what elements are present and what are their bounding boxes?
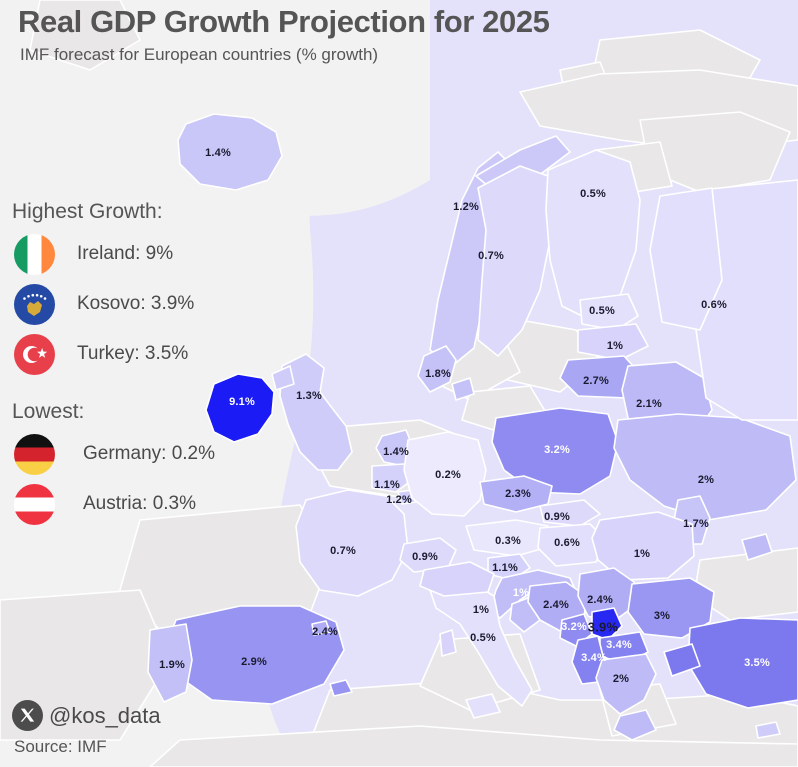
map-value-austria: 0.3%	[495, 535, 521, 547]
header: Real GDP Growth Projection for 2025 IMF …	[18, 4, 550, 65]
map-value-luxembourg: 1.2%	[386, 494, 412, 506]
map-value-netherlands: 1.4%	[383, 446, 409, 458]
page-title: Real GDP Growth Projection for 2025	[18, 4, 550, 40]
germany-flag-icon	[14, 434, 55, 475]
map-value-italy: 0.5%	[470, 632, 496, 644]
map-value-andorra: 2.4%	[312, 626, 338, 638]
infographic-root: 1.4% 1.2% 0.7% 0.5% 0.5% 0.6% 1% 2.7% 2.…	[0, 0, 798, 767]
legend-item-label: Ireland: 9%	[77, 243, 173, 265]
legend-item-label: Kosovo: 3.9%	[77, 293, 194, 315]
legend-item-germany: Germany: 0.2%	[10, 430, 215, 478]
legend-item-turkey: Turkey: 3.5%	[10, 330, 215, 378]
legend-item-label: Austria: 0.3%	[83, 493, 196, 515]
map-value-belgium: 1.1%	[374, 479, 400, 491]
ireland-flag-icon	[14, 234, 55, 275]
map-value-belarus: 2.1%	[636, 398, 662, 410]
kosovo-flag-icon	[14, 284, 55, 325]
map-value-kosovo: 3.9%	[588, 620, 618, 635]
map-value-slovenia: 1.1%	[492, 562, 518, 574]
x-logo-icon	[12, 700, 43, 731]
map-value-france: 0.7%	[330, 545, 356, 557]
map-value-croatia: 1%	[513, 587, 529, 599]
map-value-switzerland: 0.9%	[412, 551, 438, 563]
map-value-denmark: 1.8%	[425, 368, 451, 380]
legend-item-kosovo: Kosovo: 3.9%	[10, 280, 215, 328]
map-value-germany: 0.2%	[435, 469, 461, 481]
austria-flag-icon	[14, 484, 55, 525]
legend-item-ireland: Ireland: 9%	[10, 230, 215, 278]
map-value-romania: 1%	[634, 548, 650, 560]
map-value-hungary: 0.6%	[554, 537, 580, 549]
map-value-turkey: 3.5%	[744, 657, 770, 669]
map-value-russia: 0.6%	[701, 299, 727, 311]
legend-item-label: Turkey: 3.5%	[77, 343, 188, 365]
legend-item-austria: Austria: 0.3%	[10, 480, 215, 528]
footer: @kos_data Source: IMF	[12, 700, 161, 757]
map-value-latvia: 1%	[607, 340, 623, 352]
map-value-estonia: 0.5%	[589, 305, 615, 317]
handle-row: @kos_data	[12, 700, 161, 731]
legend-highest-heading: Highest Growth:	[12, 200, 215, 224]
legend-lowest-heading: Lowest:	[12, 400, 215, 424]
map-value-italy-north: 1%	[473, 604, 489, 616]
map-value-montenegro: 3.2%	[561, 621, 587, 633]
map-value-greece: 2%	[613, 673, 629, 685]
map-value-spain: 2.9%	[241, 656, 267, 668]
map-value-ireland: 9.1%	[229, 396, 255, 408]
map-value-czechia: 2.3%	[505, 488, 531, 500]
map-value-poland: 3.2%	[544, 444, 570, 456]
map-value-slovakia: 0.9%	[544, 511, 570, 523]
map-value-albania: 3.4%	[581, 652, 607, 664]
map-value-bosnia: 2.4%	[543, 599, 569, 611]
map-value-moldova: 1.7%	[683, 518, 709, 530]
legend-item-label: Germany: 0.2%	[83, 443, 215, 465]
page-subtitle: IMF forecast for European countries (% g…	[20, 45, 550, 65]
handle-text: @kos_data	[49, 703, 161, 729]
map-value-iceland: 1.4%	[205, 147, 231, 159]
map-value-portugal: 1.9%	[159, 659, 185, 671]
map-value-finland: 0.5%	[580, 188, 606, 200]
map-value-ukraine: 2%	[698, 474, 714, 486]
map-value-uk: 1.3%	[296, 390, 322, 402]
source-text: Source: IMF	[14, 737, 161, 757]
map-value-norway: 1.2%	[453, 201, 479, 213]
legend-panel: Highest Growth: Ireland: 9% Kosovo: 3.9%	[10, 200, 215, 530]
map-value-bulgaria: 3%	[654, 610, 670, 622]
map-value-north-macedonia: 3.4%	[606, 639, 632, 651]
map-value-lithuania: 2.7%	[583, 375, 609, 387]
map-value-sweden: 0.7%	[478, 250, 504, 262]
map-value-serbia: 2.4%	[587, 594, 613, 606]
turkey-flag-icon	[14, 334, 55, 375]
